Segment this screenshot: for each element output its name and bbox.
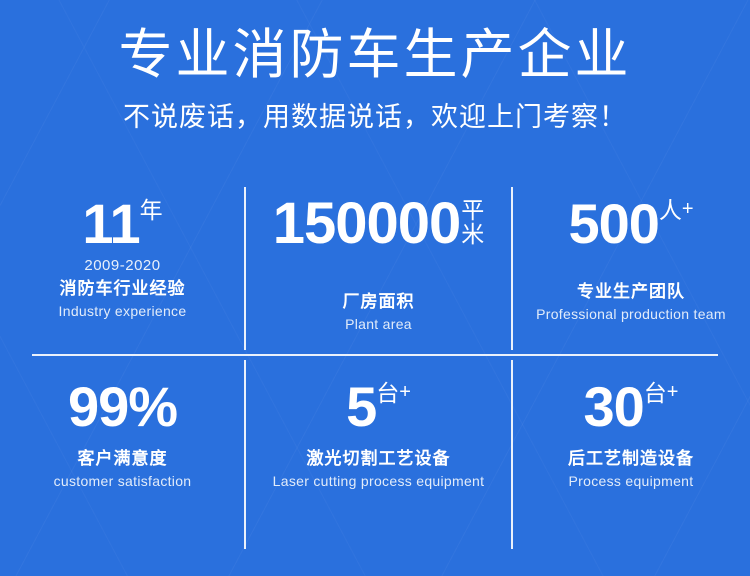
stat-cell-customer-satisfaction: 99% 客户满意度 customer satisfaction (0, 355, 245, 554)
promo-banner: 专业消防车生产企业 不说废话，用数据说话，欢迎上门考察！ 11 年 2009-2… (0, 0, 750, 576)
stat-unit: 台 (644, 377, 667, 405)
stat-number: 11 (82, 194, 139, 254)
stat-value-row: 5 台 + (346, 377, 411, 437)
stat-cell-process-equipment: 30 台 + 后工艺制造设备 Process equipment (512, 355, 750, 554)
stat-cell-plant-area: 150000 平 米 厂房面积 Plant area (245, 182, 512, 355)
stat-label-cn: 专业生产团队 (577, 280, 685, 304)
grid-divider-vertical (244, 187, 246, 350)
grid-divider-vertical (511, 187, 513, 350)
stat-number: 30 (584, 377, 644, 437)
stat-label-en: customer satisfaction (54, 471, 192, 491)
stat-label-en: Professional production team (536, 304, 726, 324)
stat-value-row: 11 年 (82, 194, 162, 254)
stat-number: 500 (568, 194, 658, 254)
stat-number: 5 (346, 377, 376, 437)
stat-unit: 平 米 (460, 194, 484, 246)
stat-label-en: Plant area (345, 314, 412, 334)
page-title: 专业消防车生产企业 (0, 0, 750, 86)
grid-divider-horizontal (32, 354, 718, 356)
stat-year-range: 2009-2020 (84, 256, 160, 276)
stat-number: 150000 (273, 194, 461, 254)
banner-header: 专业消防车生产企业 不说废话，用数据说话，欢迎上门考察！ (0, 0, 750, 134)
stat-label-cn: 激光切割工艺设备 (307, 447, 451, 471)
stat-label-en: Laser cutting process equipment (273, 471, 485, 491)
stat-label-en: Industry experience (59, 301, 187, 321)
stat-cell-industry-experience: 11 年 2009-2020 消防车行业经验 Industry experien… (0, 182, 245, 355)
grid-divider-vertical (244, 360, 246, 549)
stat-unit: 人 (659, 194, 682, 222)
grid-divider-vertical (511, 360, 513, 549)
stat-unit-plus: + (682, 194, 694, 219)
stat-value-row: 30 台 + (584, 377, 679, 437)
stat-label-cn: 客户满意度 (78, 447, 168, 471)
stat-value-row: 150000 平 米 (273, 194, 485, 254)
stat-label-cn: 后工艺制造设备 (568, 447, 694, 471)
stat-unit-line1: 平 (461, 198, 484, 222)
stat-label-en: Process equipment (569, 471, 694, 491)
page-subtitle: 不说废话，用数据说话，欢迎上门考察！ (0, 86, 750, 134)
stat-unit-line2: 米 (461, 222, 484, 246)
stat-label-cn: 消防车行业经验 (60, 277, 186, 301)
stat-unit-plus: + (667, 377, 679, 402)
stat-cell-laser-cutting-equipment: 5 台 + 激光切割工艺设备 Laser cutting process equ… (245, 355, 512, 554)
stat-number: 99% (68, 377, 177, 437)
stat-unit: 台 (376, 377, 399, 405)
stat-label-cn: 厂房面积 (343, 290, 415, 314)
stats-grid: 11 年 2009-2020 消防车行业经验 Industry experien… (0, 182, 750, 554)
stat-unit: 年 (140, 194, 163, 222)
stat-value-row: 500 人 + (568, 194, 693, 254)
stat-unit-plus: + (399, 377, 411, 402)
stat-cell-production-team: 500 人 + 专业生产团队 Professional production t… (512, 182, 750, 355)
stat-value-row: 99% (68, 377, 177, 437)
